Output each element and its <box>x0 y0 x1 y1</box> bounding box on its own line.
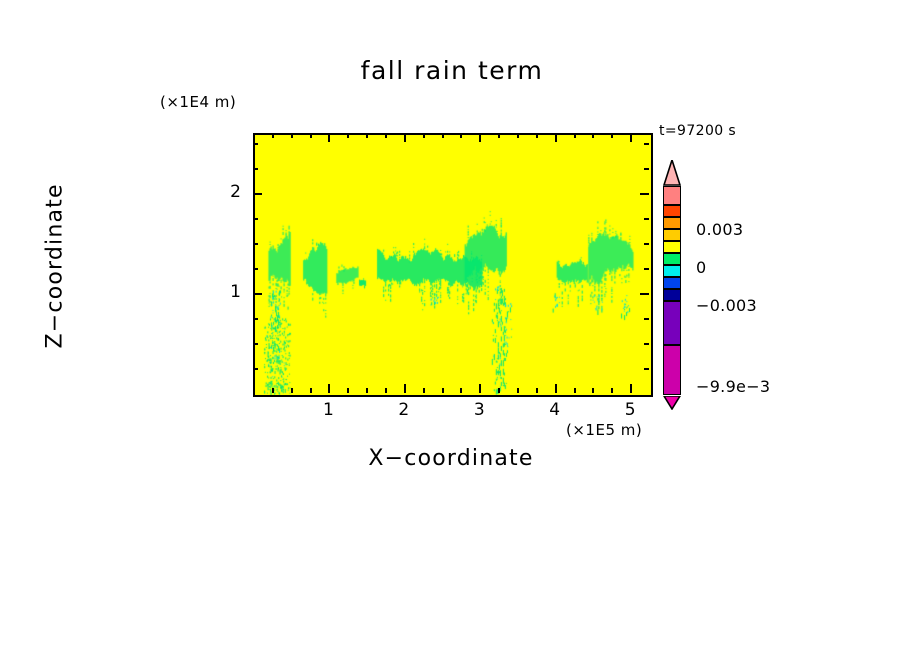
colorbar-bottom-arrow <box>663 395 681 409</box>
tick-mark <box>347 133 349 138</box>
tick-mark <box>253 168 258 170</box>
tick-mark <box>517 388 519 393</box>
tick-mark <box>423 133 425 138</box>
tick-mark <box>611 133 613 138</box>
tick-mark <box>423 388 425 393</box>
tick-mark <box>291 133 293 138</box>
page-title: fall rain term <box>0 56 904 85</box>
colorbar-band <box>663 205 681 217</box>
tick-mark <box>555 384 557 393</box>
colorbar-band <box>663 217 681 229</box>
y-axis-unit-label: (×1E4 m) <box>160 93 236 111</box>
tick-mark <box>385 388 387 393</box>
tick-mark <box>253 193 262 195</box>
tick-mark <box>253 243 258 245</box>
x-axis-unit-label: (×1E5 m) <box>566 421 642 439</box>
colorbar-tick-label: −9.9e−3 <box>696 377 770 396</box>
tick-mark <box>536 133 538 138</box>
tick-mark <box>498 133 500 138</box>
tick-mark <box>272 388 274 393</box>
tick-mark <box>328 384 330 393</box>
tick-mark <box>592 133 594 138</box>
tick-mark <box>366 133 368 138</box>
tick-mark <box>644 343 649 345</box>
tick-mark <box>253 318 258 320</box>
figure-root: fall rain term (×1E4 m) t=97200 s 123451… <box>0 0 904 654</box>
tick-mark <box>310 388 312 393</box>
tick-mark <box>479 384 481 393</box>
tick-mark <box>630 133 632 142</box>
colorbar-band <box>663 301 681 345</box>
time-annotation: t=97200 s <box>659 123 736 139</box>
colorbar-tick-label: 0.003 <box>696 220 743 239</box>
tick-mark <box>253 268 258 270</box>
tick-mark <box>366 388 368 393</box>
tick-mark <box>630 384 632 393</box>
tick-mark <box>517 133 519 138</box>
x-axis-label: X−coordinate <box>253 446 649 471</box>
colorbar-top-arrow <box>663 160 681 186</box>
y-tick-label: 2 <box>205 182 241 202</box>
colorbar-band <box>663 253 681 265</box>
tick-mark <box>644 243 649 245</box>
tick-mark <box>640 293 649 295</box>
tick-mark <box>644 168 649 170</box>
x-tick-label: 4 <box>535 400 575 420</box>
colorbar-band <box>663 186 681 205</box>
tick-mark <box>644 268 649 270</box>
tick-mark <box>574 133 576 138</box>
tick-mark <box>404 133 406 142</box>
tick-mark <box>498 388 500 393</box>
y-tick-label: 1 <box>205 282 241 302</box>
colorbar <box>663 186 681 385</box>
tick-mark <box>310 133 312 138</box>
tick-mark <box>479 133 481 142</box>
plot-area <box>253 133 653 397</box>
tick-mark <box>644 318 649 320</box>
x-tick-label: 3 <box>459 400 499 420</box>
tick-mark <box>291 388 293 393</box>
colorbar-band <box>663 265 681 277</box>
tick-mark <box>644 143 649 145</box>
colorbar-band <box>663 277 681 289</box>
colorbar-band <box>663 289 681 301</box>
colorbar-tick-label: 0 <box>696 258 706 277</box>
colorbar-band <box>663 345 681 395</box>
tick-mark <box>460 133 462 138</box>
tick-mark <box>460 388 462 393</box>
contour-field <box>255 135 651 395</box>
tick-mark <box>644 218 649 220</box>
tick-mark <box>404 384 406 393</box>
tick-mark <box>442 388 444 393</box>
tick-mark <box>592 388 594 393</box>
tick-mark <box>574 388 576 393</box>
tick-mark <box>253 293 262 295</box>
tick-mark <box>611 388 613 393</box>
tick-mark <box>253 368 258 370</box>
colorbar-band <box>663 229 681 241</box>
x-tick-label: 5 <box>610 400 650 420</box>
tick-mark <box>253 143 258 145</box>
tick-mark <box>536 388 538 393</box>
tick-mark <box>640 193 649 195</box>
y-axis-label: Z−coordinate <box>43 197 68 349</box>
tick-mark <box>328 133 330 142</box>
tick-mark <box>272 133 274 138</box>
x-tick-label: 1 <box>308 400 348 420</box>
tick-mark <box>442 133 444 138</box>
colorbar-band <box>663 241 681 253</box>
tick-mark <box>253 218 258 220</box>
tick-mark <box>385 133 387 138</box>
tick-mark <box>347 388 349 393</box>
tick-mark <box>253 343 258 345</box>
tick-mark <box>644 368 649 370</box>
colorbar-tick-label: −0.003 <box>696 296 757 315</box>
tick-mark <box>555 133 557 142</box>
x-tick-label: 2 <box>384 400 424 420</box>
